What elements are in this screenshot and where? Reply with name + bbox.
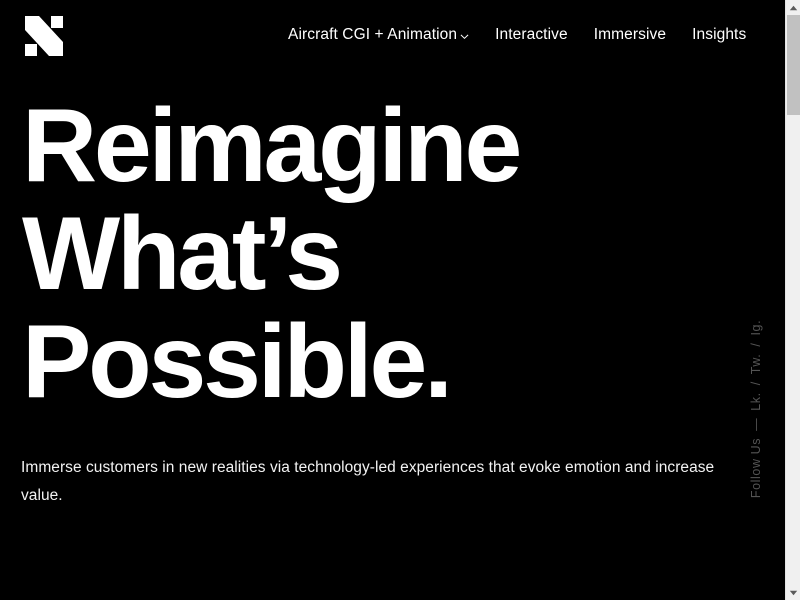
- scroll-down-arrow-icon[interactable]: [786, 585, 800, 600]
- hero-heading-line-1: Reimagine: [22, 92, 519, 200]
- nav-item-aircraft-cgi-animation[interactable]: Aircraft CGI + Animation: [288, 25, 469, 45]
- hero-heading: Reimagine What’s Possible.: [22, 92, 519, 416]
- chevron-down-icon: [460, 32, 469, 41]
- page-root: Aircraft CGI + Animation Interactive Imm…: [0, 0, 785, 600]
- vertical-scrollbar[interactable]: [785, 0, 800, 600]
- hero-heading-line-3: Possible.: [22, 308, 519, 416]
- nav-item-immersive[interactable]: Immersive: [594, 25, 666, 45]
- follow-separator: /: [749, 381, 763, 385]
- nav-item-label: Insights: [692, 25, 746, 45]
- social-link-linkedin[interactable]: Lk.: [749, 392, 763, 410]
- follow-us-label: Follow Us: [749, 438, 763, 498]
- site-header: Aircraft CGI + Animation Interactive Imm…: [0, 0, 785, 72]
- follow-separator: /: [749, 343, 763, 347]
- follow-us-dash: —: [749, 418, 763, 431]
- nav-item-label: Aircraft CGI + Animation: [288, 25, 457, 45]
- n-mark-logo[interactable]: [20, 12, 68, 60]
- follow-us-rail: Follow Us — Lk. / Tw. / Ig.: [745, 196, 767, 416]
- follow-us-rail-inner: Follow Us — Lk. / Tw. / Ig.: [749, 320, 763, 498]
- nav-item-label: Interactive: [495, 25, 568, 45]
- nav-item-insights[interactable]: Insights: [692, 25, 746, 45]
- social-link-twitter[interactable]: Tw.: [749, 354, 763, 375]
- scroll-up-arrow-icon[interactable]: [786, 0, 800, 15]
- main-navigation: Aircraft CGI + Animation Interactive Imm…: [288, 25, 746, 45]
- social-link-instagram[interactable]: Ig.: [749, 320, 763, 336]
- hero-heading-line-2: What’s: [22, 200, 519, 308]
- scrollbar-thumb[interactable]: [787, 15, 800, 115]
- nav-item-interactive[interactable]: Interactive: [495, 25, 568, 45]
- hero-subtext: Immerse customers in new realities via t…: [21, 454, 733, 510]
- nav-item-label: Immersive: [594, 25, 666, 45]
- n-mark-logo-icon: [20, 12, 68, 60]
